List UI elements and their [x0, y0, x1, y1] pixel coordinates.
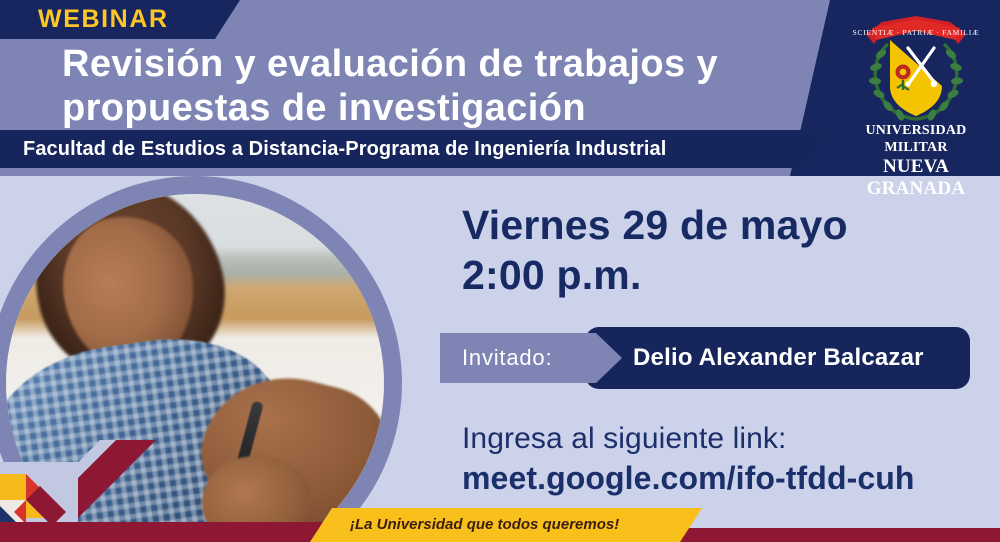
webinar-poster: WEBINAR Revisión y evaluación de trabajo… — [0, 0, 1000, 542]
event-date: Viernes 29 de mayo 2:00 p.m. — [462, 200, 848, 300]
event-time-line: 2:00 p.m. — [462, 250, 848, 300]
meeting-link-url[interactable]: meet.google.com/ifo-tfdd-cuh — [462, 458, 915, 498]
link-intro-text: Ingresa al siguiente link: — [462, 420, 915, 458]
meeting-link-block: Ingresa al siguiente link: meet.google.c… — [462, 420, 915, 498]
webinar-badge-label: WEBINAR — [38, 6, 169, 33]
invited-speaker-row: Invitado: Delio Alexander Balcazar — [440, 327, 970, 389]
invited-label: Invitado: — [462, 344, 552, 372]
crest-motto: SCIENTIÆ · PATRIÆ · FAMILIÆ — [853, 28, 980, 37]
university-logo: SCIENTIÆ · PATRIÆ · FAMILIÆ UNIVERSIDAD … — [848, 14, 984, 166]
title-line-1: Revisión y evaluación de trabajos y — [62, 42, 822, 86]
footer-tagline: ¡La Universidad que todos queremos! — [350, 515, 619, 535]
invited-speaker-name: Delio Alexander Balcazar — [633, 344, 924, 372]
university-crest-icon: SCIENTIÆ · PATRIÆ · FAMILIÆ — [848, 14, 984, 124]
title-line-2: propuestas de investigación — [62, 86, 822, 130]
poster-title: Revisión y evaluación de trabajos y prop… — [62, 42, 822, 130]
faculty-subtitle: Facultad de Estudios a Distancia-Program… — [23, 136, 666, 162]
university-name-line1: UNIVERSIDAD MILITAR — [848, 122, 984, 156]
university-name-line2: NUEVA GRANADA — [848, 156, 984, 200]
event-date-line-1: Viernes 29 de mayo — [462, 200, 848, 250]
university-name: UNIVERSIDAD MILITAR NUEVA GRANADA — [848, 122, 984, 200]
